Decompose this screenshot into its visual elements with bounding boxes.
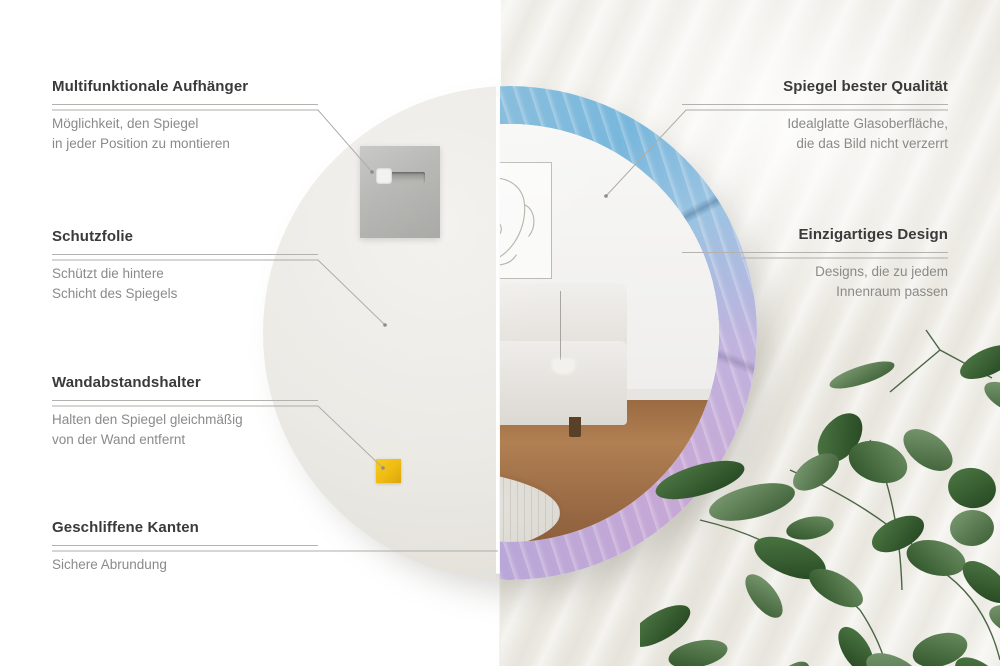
callout-wandabstandshalter[interactable]: Wandabstandshalter Halten den Spiegel gl…: [52, 374, 318, 449]
callout-rule: [682, 252, 948, 253]
callout-title: Multifunktionale Aufhänger: [52, 78, 318, 95]
callout-schutzfolie[interactable]: Schutzfolie Schützt die hintere Schicht …: [52, 228, 318, 303]
wall-spacer-block: [376, 459, 401, 483]
callout-title: Einzigartiges Design: [682, 226, 948, 243]
decorative-foliage: [640, 320, 1000, 666]
callout-rule: [52, 545, 318, 546]
callout-description: Möglichkeit, den Spiegel in jeder Positi…: [52, 114, 318, 153]
callout-rule: [52, 400, 318, 401]
callout-einzigartiges-design[interactable]: Einzigartiges Design Designs, die zu jed…: [682, 226, 948, 301]
callout-spiegel-bester-qualitaet[interactable]: Spiegel bester Qualität Idealglatte Glas…: [682, 78, 948, 153]
callout-geschliffene-kanten[interactable]: Geschliffene Kanten Sichere Abrundung: [52, 519, 318, 575]
callout-rule: [682, 104, 948, 105]
callout-title: Spiegel bester Qualität: [682, 78, 948, 95]
callout-description: Idealglatte Glasoberfläche, die das Bild…: [682, 114, 948, 153]
callout-title: Schutzfolie: [52, 228, 318, 245]
callout-description: Schützt die hintere Schicht des Spiegels: [52, 264, 318, 303]
callout-rule: [52, 254, 318, 255]
infographic-canvas: Multifunktionale Aufhänger Möglichkeit, …: [0, 0, 1000, 666]
callout-description: Halten den Spiegel gleichmäßig von der W…: [52, 410, 318, 449]
callout-description: Designs, die zu jedem Innenraum passen: [682, 262, 948, 301]
callout-title: Wandabstandshalter: [52, 374, 318, 391]
callout-rule: [52, 104, 318, 105]
hanger-screw-hole: [376, 168, 392, 184]
callout-multifunktionale-aufhaenger[interactable]: Multifunktionale Aufhänger Möglichkeit, …: [52, 78, 318, 153]
callout-title: Geschliffene Kanten: [52, 519, 318, 536]
callout-description: Sichere Abrundung: [52, 555, 318, 575]
hanger-plate: [360, 146, 440, 238]
